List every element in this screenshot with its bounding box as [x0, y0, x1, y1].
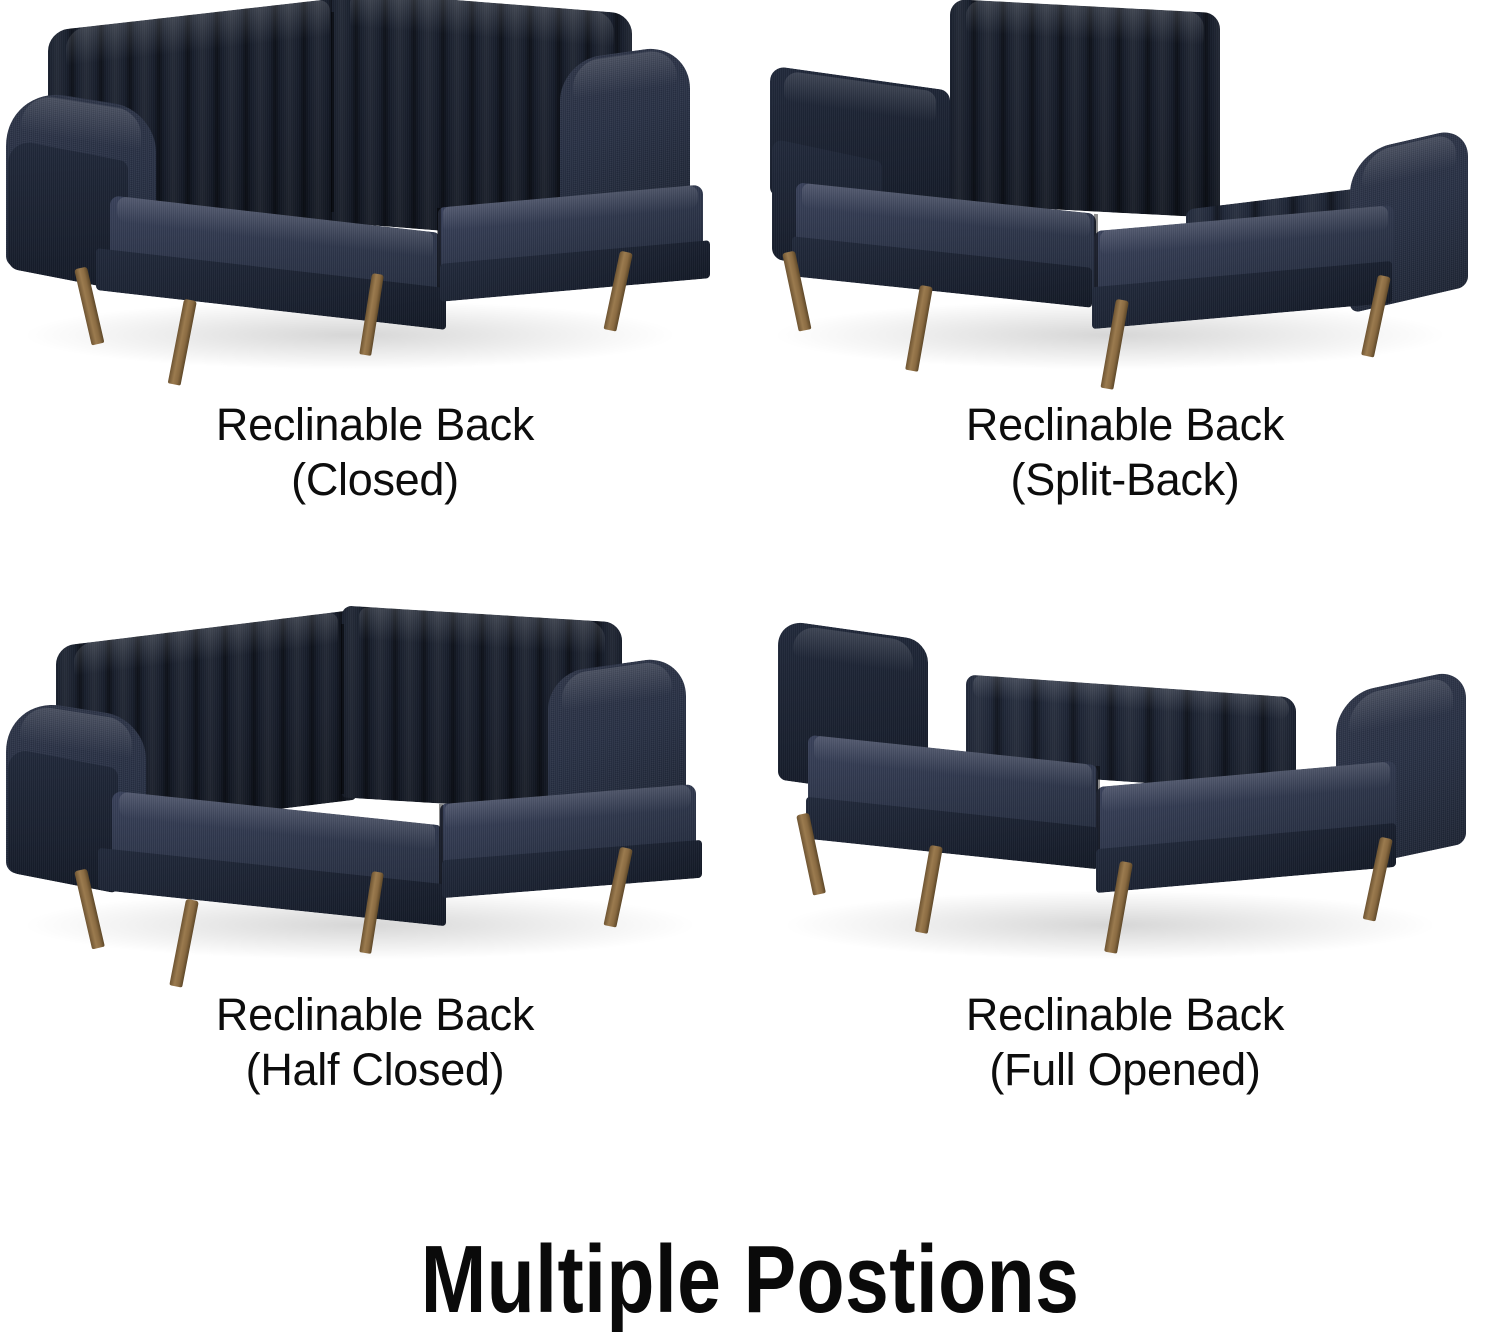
caption-closed: Reclinable Back (Closed) [0, 398, 750, 508]
product-view-grid: Reclinable Back (Closed) [0, 0, 1500, 1180]
sofa-illustration-half-closed [0, 590, 750, 990]
caption-half-closed: Reclinable Back (Half Closed) [0, 988, 750, 1098]
headline: Multiple Postions [135, 1232, 1365, 1328]
sofa-illustration-closed [0, 0, 750, 400]
product-view-full-opened: Reclinable Back (Full Opened) [750, 590, 1500, 1180]
product-view-split-back: Reclinable Back (Split-Back) [750, 0, 1500, 590]
sofa-illustration-split-back [750, 0, 1500, 400]
product-view-half-closed: Reclinable Back (Half Closed) [0, 590, 750, 1180]
product-view-closed: Reclinable Back (Closed) [0, 0, 750, 590]
caption-split-back: Reclinable Back (Split-Back) [750, 398, 1500, 508]
caption-full-opened: Reclinable Back (Full Opened) [750, 988, 1500, 1098]
sofa-illustration-full-opened [750, 590, 1500, 990]
